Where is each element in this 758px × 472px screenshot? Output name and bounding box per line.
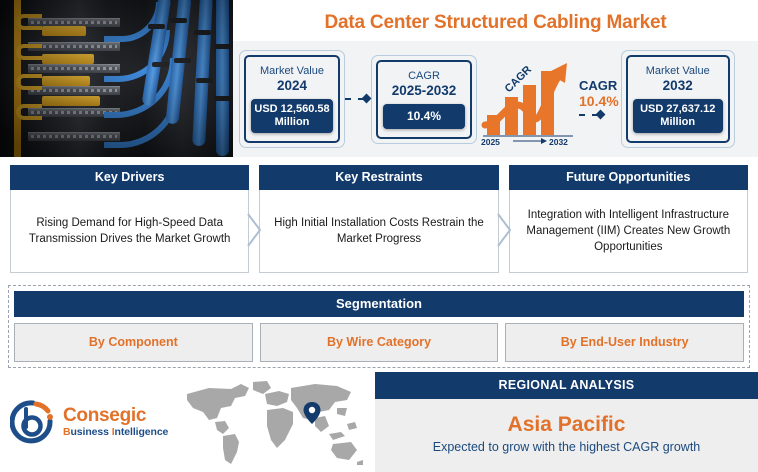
segmentation-heading: Segmentation <box>14 291 744 317</box>
pillar-key-restraints: Key Restraints High Initial Installation… <box>259 165 498 279</box>
mv2024-year: 2024 <box>251 78 333 94</box>
pillars-row: Key Drivers Rising Demand for High-Speed… <box>0 157 758 279</box>
cagr-growth-chart-block: CAGR 2025 2032 CAGR 10.4% <box>477 53 621 145</box>
connector-dotted-2 <box>579 110 605 120</box>
hero-datacenter-photo <box>0 0 233 157</box>
cagr-callout: CAGR 10.4% <box>579 78 619 120</box>
cagr-period: 2025-2032 <box>383 83 465 99</box>
tagline-ntelligence: ntelligence <box>115 426 169 438</box>
regional-analysis-panel: REGIONAL ANALYSIS Asia Pacific Expected … <box>375 372 758 472</box>
segmentation-item-by-end-user-industry[interactable]: By End-User Industry <box>505 323 744 362</box>
page-title: Data Center Structured Cabling Market <box>233 0 758 41</box>
pillar-0-heading: Key Drivers <box>10 165 249 190</box>
segmentation-items: By Component By Wire Category By End-Use… <box>14 323 744 362</box>
pillar-key-drivers: Key Drivers Rising Demand for High-Speed… <box>10 165 249 279</box>
segmentation-section: Segmentation By Component By Wire Catego… <box>8 285 750 368</box>
pillar-1-text: High Initial Installation Costs Restrain… <box>259 190 498 273</box>
header-and-stats: Data Center Structured Cabling Market Ma… <box>233 0 758 157</box>
segmentation-item-by-component[interactable]: By Component <box>14 323 253 362</box>
cagr-value: 10.4% <box>383 104 465 129</box>
top-section: Data Center Structured Cabling Market Ma… <box>0 0 758 157</box>
mv2032-year: 2032 <box>633 78 723 94</box>
brand-name: Consegic <box>63 405 168 426</box>
cagr-callout-value: 10.4% <box>579 93 619 110</box>
cagr-bar-chart: CAGR 2025 2032 <box>479 53 577 145</box>
pillar-2-text: Integration with Intelligent Infrastruct… <box>509 190 748 273</box>
chevron-right-icon-2 <box>497 213 511 247</box>
footer: Consegic Business Intelligence <box>0 368 758 472</box>
pillar-2-heading: Future Opportunities <box>509 165 748 190</box>
tagline-usiness: usiness <box>70 426 111 438</box>
brand-logo: Consegic Business Intelligence <box>0 399 175 445</box>
mv2032-value: USD 27,637.12 Million <box>633 99 723 133</box>
pillar-future-opportunities: Future Opportunities Integration with In… <box>509 165 748 279</box>
cagr-callout-title: CAGR <box>579 78 619 93</box>
mv2024-value: USD 12,560.58 Million <box>251 99 333 133</box>
chart-xlabel-end: 2032 <box>549 137 568 145</box>
chart-xlabel-start: 2025 <box>481 137 500 145</box>
regional-analysis-heading: REGIONAL ANALYSIS <box>375 372 758 399</box>
market-value-2032-card: Market Value 2032 USD 27,637.12 Million <box>621 50 735 148</box>
photo-vignette <box>0 0 233 157</box>
world-map <box>175 378 371 466</box>
chevron-right-icon-1 <box>247 213 261 247</box>
brand-tagline: Business Intelligence <box>63 426 168 439</box>
pillar-0-text: Rising Demand for High-Speed Data Transm… <box>10 190 249 273</box>
pillar-1-heading: Key Restraints <box>259 165 498 190</box>
consegic-logo-icon <box>10 399 56 445</box>
cagr-card: CAGR 2025-2032 10.4% <box>371 55 477 144</box>
stats-row: Market Value 2024 USD 12,560.58 Million … <box>233 41 758 157</box>
mv2024-label: Market Value <box>251 64 333 78</box>
connector-dotted-1 <box>345 94 371 104</box>
cagr-label: CAGR <box>383 69 465 83</box>
region-subtitle: Expected to grow with the highest CAGR g… <box>433 440 701 454</box>
region-name: Asia Pacific <box>508 413 626 437</box>
brand-logo-text: Consegic Business Intelligence <box>63 405 168 439</box>
world-map-icon <box>179 378 367 466</box>
mv2032-label: Market Value <box>633 64 723 78</box>
market-value-2024-card: Market Value 2024 USD 12,560.58 Million <box>239 50 345 148</box>
segmentation-item-by-wire-category[interactable]: By Wire Category <box>260 323 499 362</box>
regional-analysis-body: Asia Pacific Expected to grow with the h… <box>375 399 758 472</box>
